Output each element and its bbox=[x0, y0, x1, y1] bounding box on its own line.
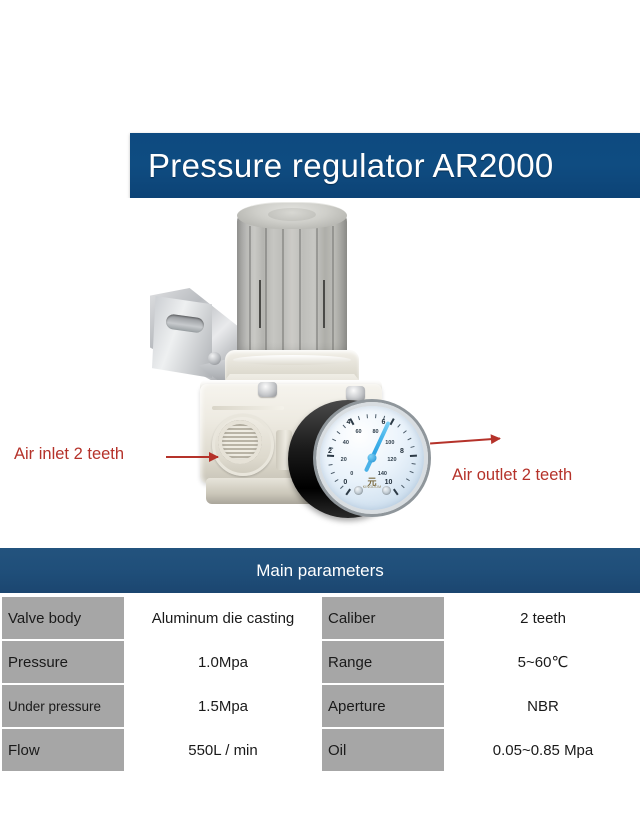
gauge-hub bbox=[368, 454, 377, 463]
table-row: Valve bodyAluminum die castingCaliber2 t… bbox=[1, 596, 640, 640]
param-value: 2 teeth bbox=[445, 596, 640, 640]
param-value: NBR bbox=[445, 684, 640, 728]
page-title: Pressure regulator AR2000 bbox=[130, 147, 554, 185]
param-value: 5~60℃ bbox=[445, 640, 640, 684]
param-value: Aluminum die casting bbox=[125, 596, 321, 640]
gauge-scale-label-inner: 120 bbox=[387, 457, 396, 463]
param-label: Caliber bbox=[321, 596, 445, 640]
gauge-scale-label-inner: 100 bbox=[385, 440, 394, 446]
table-row: Flow550L / minOil0.05~0.85 Mpa bbox=[1, 728, 640, 772]
adjustment-knob bbox=[237, 208, 347, 358]
param-value: 1.5Mpa bbox=[125, 684, 321, 728]
body-screw-icon bbox=[346, 386, 365, 401]
param-label: Aperture bbox=[321, 684, 445, 728]
pressure-regulator-illustration: 0246810020406080100120140 元 KINGDOM bbox=[150, 198, 440, 528]
gauge-scale-label: 2 bbox=[328, 448, 332, 455]
param-label: Flow bbox=[1, 728, 125, 772]
dial-screw-icon bbox=[354, 486, 363, 495]
body-groove bbox=[212, 406, 284, 410]
pressure-gauge: 0246810020406080100120140 元 KINGDOM bbox=[316, 402, 428, 514]
table-row: Under pressure1.5MpaApertureNBR bbox=[1, 684, 640, 728]
body-screw-icon bbox=[258, 382, 277, 397]
table-header: Main parameters bbox=[0, 548, 640, 595]
bracket-bolt-icon bbox=[208, 352, 221, 365]
dial-screw-icon bbox=[382, 486, 391, 495]
gauge-logo-sub: KINGDOM bbox=[363, 485, 382, 489]
arrow-right-icon bbox=[166, 456, 218, 458]
table-row: Pressure1.0MpaRange5~60℃ bbox=[1, 640, 640, 684]
gauge-scale-label: 0 bbox=[343, 479, 347, 486]
parameters-table: Valve bodyAluminum die castingCaliber2 t… bbox=[0, 595, 640, 773]
param-value: 0.05~0.85 Mpa bbox=[445, 728, 640, 772]
gauge-scale-label-inner: 60 bbox=[356, 429, 362, 435]
annotation-air-outlet: Air outlet 2 teeth bbox=[452, 466, 572, 485]
title-banner: Pressure regulator AR2000 bbox=[130, 133, 640, 198]
gauge-scale-label-inner: 80 bbox=[372, 429, 378, 435]
product-photo: 0246810020406080100120140 元 KINGDOM bbox=[0, 198, 640, 548]
param-label: Under pressure bbox=[1, 684, 125, 728]
param-label: Oil bbox=[321, 728, 445, 772]
param-label: Valve body bbox=[1, 596, 125, 640]
gauge-scale-label-inner: 20 bbox=[341, 457, 347, 463]
annotation-air-inlet: Air inlet 2 teeth bbox=[14, 445, 124, 464]
gauge-scale-label: 8 bbox=[400, 448, 404, 455]
gauge-scale-label: 4 bbox=[347, 419, 351, 426]
param-value: 1.0Mpa bbox=[125, 640, 321, 684]
param-label: Pressure bbox=[1, 640, 125, 684]
threaded-air-port bbox=[218, 420, 262, 464]
collar-ring bbox=[233, 355, 351, 365]
gauge-scale-label-inner: 0 bbox=[350, 471, 353, 477]
gauge-scale-label-inner: 40 bbox=[343, 440, 349, 446]
gauge-scale-label-inner: 140 bbox=[378, 471, 387, 477]
knob-top-inner bbox=[268, 208, 316, 221]
main-parameters-section: Main parameters Valve bodyAluminum die c… bbox=[0, 548, 640, 773]
param-value: 550L / min bbox=[125, 728, 321, 772]
param-label: Range bbox=[321, 640, 445, 684]
